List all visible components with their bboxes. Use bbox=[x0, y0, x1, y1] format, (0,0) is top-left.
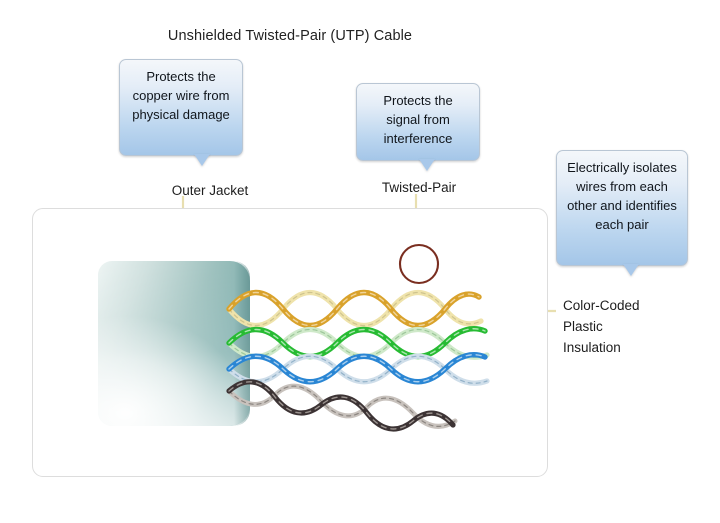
callout-tail-icon bbox=[623, 264, 639, 276]
label-color-coded-plastic-insulation: Color-Coded Plastic Insulation bbox=[563, 295, 703, 358]
twisted-pair-highlight-circle bbox=[400, 245, 438, 283]
green-twisted-pair bbox=[229, 329, 487, 358]
cable-illustration-panel bbox=[32, 208, 548, 477]
callout-twisted-pair-text: Protects the signal from interference bbox=[383, 93, 452, 146]
callout-outer-jacket: Protects the copper wire from physical d… bbox=[119, 59, 243, 156]
callout-insulation-text: Electrically isolates wires from each ot… bbox=[567, 160, 677, 232]
callout-outer-jacket-text: Protects the copper wire from physical d… bbox=[132, 69, 230, 122]
label-outer-jacket: Outer Jacket bbox=[142, 180, 278, 201]
orange-twisted-pair bbox=[229, 293, 481, 326]
page-title: Unshielded Twisted-Pair (UTP) Cable bbox=[0, 28, 580, 44]
callout-tail-icon bbox=[194, 154, 210, 166]
twisted-pairs-group bbox=[33, 209, 548, 477]
callout-twisted-pair: Protects the signal from interference bbox=[356, 83, 480, 161]
callout-insulation: Electrically isolates wires from each ot… bbox=[556, 150, 688, 266]
callout-tail-icon bbox=[419, 159, 435, 171]
blue-twisted-pair bbox=[229, 355, 487, 384]
brown-twisted-pair bbox=[229, 382, 455, 429]
